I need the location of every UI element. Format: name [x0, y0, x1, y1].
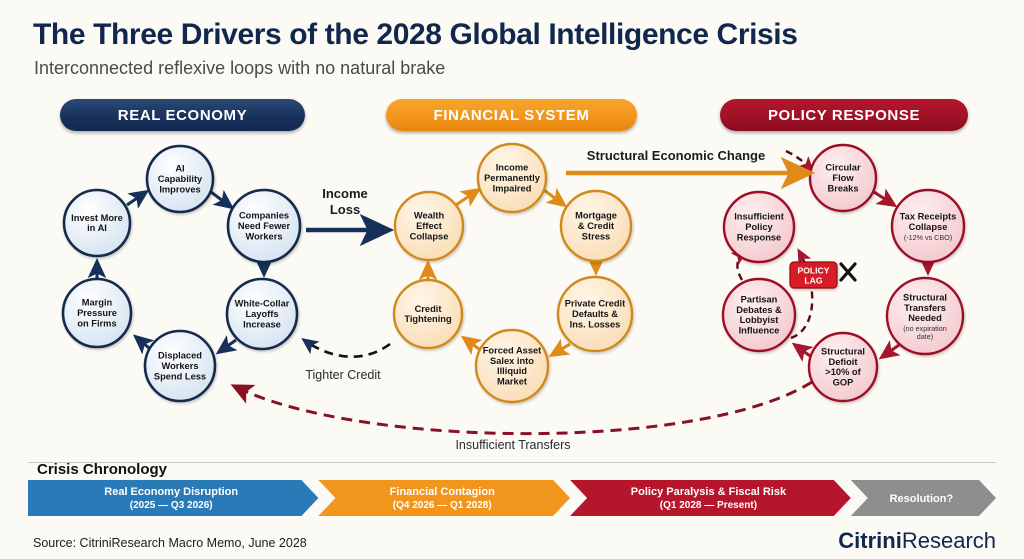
node-label-line: Policy	[745, 222, 773, 232]
node-label-line: Pressure	[77, 308, 117, 318]
node-label-line: Wealth	[414, 211, 445, 221]
arrow-displaced-to-margin	[136, 337, 149, 348]
node-label-line: Flow	[832, 173, 854, 183]
arrow-privatecredit-to-forced	[552, 344, 570, 355]
arrow-transfers-to-deficit	[882, 345, 899, 357]
node-partisan-debates-lobbyist-influence[interactable]: PartisanDebates &LobbyistInfluence	[723, 279, 795, 351]
node-label-line: Salex into	[490, 356, 534, 366]
node-label-line: Companies	[239, 211, 289, 221]
infographic-root: The Three Drivers of the 2028 Global Int…	[0, 0, 1024, 559]
cluster-policy-response: CircularFlowBreaksTax ReceiptsCollapse(-…	[723, 145, 964, 401]
footer-divider	[28, 462, 996, 463]
node-label-line: Workers	[245, 231, 282, 241]
arrow-deficit-to-partisan	[795, 345, 810, 356]
node-label-line: Credit	[415, 304, 442, 314]
connector-structural-economic-change: Structural Economic Change	[566, 148, 806, 173]
node-tax-receipts-collapse[interactable]: Tax ReceiptsCollapse(-12% vs CBO)	[892, 190, 964, 262]
chronology-phase-period: (Q4 2026 — Q1 2028)	[393, 500, 492, 511]
node-label-line: Mortgage	[575, 211, 617, 221]
nodes-layer: AICapabilityImprovesCompaniesNeed FewerW…	[63, 144, 964, 402]
cluster-financial-system: IncomePermanentlyImpairedMortgage& Credi…	[394, 144, 632, 402]
node-label-line: Response	[737, 232, 781, 242]
node-label-line: Needed	[908, 313, 942, 323]
node-label-line: Ins. Losses	[570, 319, 621, 329]
node-label-line: Displaced	[158, 351, 202, 361]
badge-policy-lag[interactable]: POLICYLAG	[790, 262, 837, 288]
node-circular-flow-breaks[interactable]: CircularFlowBreaks	[810, 145, 876, 211]
node-label-line: Need Fewer	[238, 221, 291, 231]
node-label-line: Defaults &	[572, 309, 618, 319]
source-note: Source: CitriniResearch Macro Memo, June…	[33, 536, 307, 550]
node-label-line: Defioit	[829, 357, 858, 367]
chronology-phase-resolution[interactable]: Resolution?	[851, 480, 996, 516]
node-label-line: Tightening	[404, 314, 452, 324]
node-ai-capability-improves[interactable]: AICapabilityImproves	[147, 146, 213, 212]
arrow-income-to-mortgage	[544, 190, 564, 205]
node-insufficient-policy-response[interactable]: InsufficientPolicyResponse	[724, 192, 794, 262]
node-label-line: GOP	[833, 378, 854, 388]
arrow-wealth-to-income	[456, 190, 478, 205]
node-credit-tightening[interactable]: CreditTightening	[394, 280, 462, 348]
node-forced-asset-sales-into-illiquid-market[interactable]: Forced AssetSalex intoIlliquidMarket	[476, 330, 548, 402]
node-label-line: Collapse	[909, 222, 948, 232]
node-mortgage-credit-stress[interactable]: Mortgage& CreditStress	[561, 191, 631, 261]
chronology-phase-period: (Q1 2028 — Present)	[660, 500, 757, 511]
chronology-phase-title: Resolution?	[890, 493, 954, 505]
node-label-line: Improves	[159, 184, 200, 194]
connector-tighter-credit-label: Tighter Credit	[305, 368, 381, 382]
node-income-permanently-impaired[interactable]: IncomePermanentlyImpaired	[478, 144, 546, 212]
arrow-layoffs-to-displaced	[219, 340, 236, 352]
node-label-line: Effect	[416, 221, 442, 231]
node-structural-transfers-needed[interactable]: StructuralTransfersNeeded(no expirationd…	[887, 278, 963, 354]
node-label-line: Partisan	[741, 294, 778, 304]
chronology-phase-financial-contagion[interactable]: Financial Contagion(Q4 2026 — Q1 2028)	[318, 480, 570, 516]
node-sublabel-line: date)	[917, 332, 933, 341]
brand-bold: Citrini	[838, 528, 902, 553]
node-label-line: AI	[175, 164, 184, 174]
node-label-line: Layoffs	[245, 309, 278, 319]
badge-label-line: POLICY	[798, 266, 830, 276]
node-label-line: Permanently	[484, 173, 541, 183]
node-label-line: Collapse	[410, 231, 449, 241]
node-label-line: Invest More	[71, 213, 123, 223]
node-invest-more-in-ai[interactable]: Invest Morein AI	[64, 190, 130, 256]
node-white-collar-layoffs-increase[interactable]: White-CollarLayoffsIncrease	[227, 279, 297, 349]
brand-logo: CitriniResearch	[838, 528, 996, 554]
node-label-line: in AI	[87, 223, 107, 233]
chronology-title: Crisis Chronology	[37, 461, 168, 478]
node-label-line: Structural	[821, 346, 865, 356]
diagram-canvas: AICapabilityImprovesCompaniesNeed FewerW…	[0, 0, 1024, 559]
node-structural-deficit-gdp[interactable]: StructuralDefioit>10% ofGOP	[809, 333, 877, 401]
arrow-invest-to-aicap	[127, 192, 146, 205]
node-label-line: Private Credit	[565, 299, 625, 309]
node-label-line: Lobbyist	[740, 315, 779, 325]
node-label-line: >10% of	[825, 367, 861, 377]
node-label-line: Workers	[161, 361, 198, 371]
node-private-credit-defaults-ins-losses[interactable]: Private CreditDefaults &Ins. Losses	[558, 277, 632, 351]
node-wealth-effect-collapse[interactable]: WealthEffectCollapse	[395, 192, 463, 260]
arrow-forced-to-credittightening	[464, 338, 479, 349]
arrow-aicap-to-companies	[211, 192, 231, 207]
node-label-line: Influence	[739, 326, 780, 336]
node-label-line: Spend Less	[154, 371, 206, 381]
connector-structural-economic-change-label: Structural Economic Change	[587, 148, 765, 163]
node-label-line: Income	[496, 163, 529, 173]
arrow-insufficient-to-circular	[786, 151, 812, 170]
node-label-line: Increase	[243, 319, 281, 329]
node-sublabel-line: (-12% vs CBO)	[904, 233, 952, 242]
chronology-phase-policy-paralysis-fiscal-risk[interactable]: Policy Paralysis & Fiscal Risk(Q1 2028 —…	[570, 480, 851, 516]
node-companies-need-fewer-workers[interactable]: CompaniesNeed FewerWorkers	[228, 190, 300, 262]
node-label-line: Margin	[82, 298, 113, 308]
connector-insufficient-transfers-label: Insufficient Transfers	[455, 438, 570, 452]
node-label-line: Forced Asset	[483, 345, 542, 355]
node-label-line: Illiquid	[497, 366, 527, 376]
connector-income-loss-label-line2: Loss	[330, 202, 360, 217]
node-label-line: Insufficient	[734, 212, 784, 222]
node-displaced-workers-spend-less[interactable]: DisplacedWorkersSpend Less	[145, 331, 215, 401]
connector-income-loss-label-line1: Income	[322, 186, 368, 201]
connector-income-loss: Income Loss	[306, 186, 385, 230]
node-label-line: Structural	[903, 292, 947, 302]
node-label-line: on Firms	[77, 318, 116, 328]
chronology-phase-title: Real Economy Disruption	[104, 486, 238, 498]
chronology-phase-title: Financial Contagion	[390, 486, 495, 498]
node-label-line: Breaks	[827, 183, 858, 193]
arrow-circular-to-taxreceipts	[874, 192, 894, 205]
node-label-line: & Credit	[578, 221, 614, 231]
node-label-line: Tax Receipts	[900, 212, 957, 222]
chronology-bar: Real Economy Disruption(2025 — Q3 2026)F…	[28, 480, 996, 516]
chronology-phase-real-economy-disruption[interactable]: Real Economy Disruption(2025 — Q3 2026)	[28, 480, 318, 516]
chronology-phase-title: Policy Paralysis & Fiscal Risk	[631, 486, 787, 498]
badge-label-line: LAG	[804, 276, 822, 286]
brand-light: Research	[902, 528, 996, 553]
policy-lag-x-icon	[841, 264, 855, 280]
node-label-line: Stress	[582, 231, 610, 241]
node-label-line: Transfers	[904, 303, 946, 313]
node-label-line: Debates &	[736, 305, 782, 315]
node-margin-pressure-on-firms[interactable]: MarginPressureon Firms	[63, 279, 131, 347]
chronology-phase-period: (2025 — Q3 2026)	[130, 500, 213, 511]
node-label-line: Market	[497, 377, 527, 387]
node-label-line: White-Collar	[235, 299, 290, 309]
node-label-line: Circular	[825, 163, 861, 173]
node-label-line: Impaired	[493, 183, 532, 193]
connector-tighter-credit: Tighter Credit	[304, 340, 390, 382]
node-label-line: Capability	[158, 174, 203, 184]
